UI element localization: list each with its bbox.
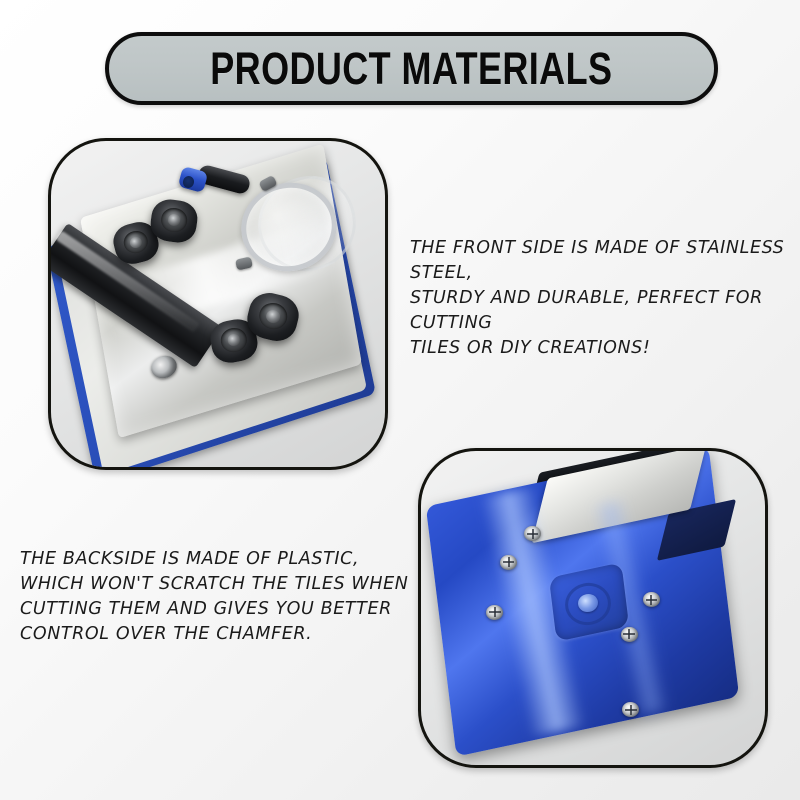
back-product-photo-card <box>418 448 768 768</box>
screw-icon <box>500 555 517 570</box>
screw-icon <box>621 627 638 642</box>
front-product-photo-card <box>48 138 388 470</box>
product-materials-infographic: PRODUCT MATERIALS THE FRONT SIDE I <box>0 0 800 800</box>
title-banner: PRODUCT MATERIALS <box>105 32 718 105</box>
blue-plastic-backside-photo <box>421 451 765 765</box>
front-caption-text: THE FRONT SIDE IS MADE OF STAINLESS STEE… <box>410 236 794 361</box>
stainless-steel-tile-jig-photo <box>51 141 385 467</box>
back-caption-text: THE BACKSIDE IS MADE OF PLASTIC, WHICH W… <box>20 547 412 647</box>
page-title: PRODUCT MATERIALS <box>210 46 612 91</box>
